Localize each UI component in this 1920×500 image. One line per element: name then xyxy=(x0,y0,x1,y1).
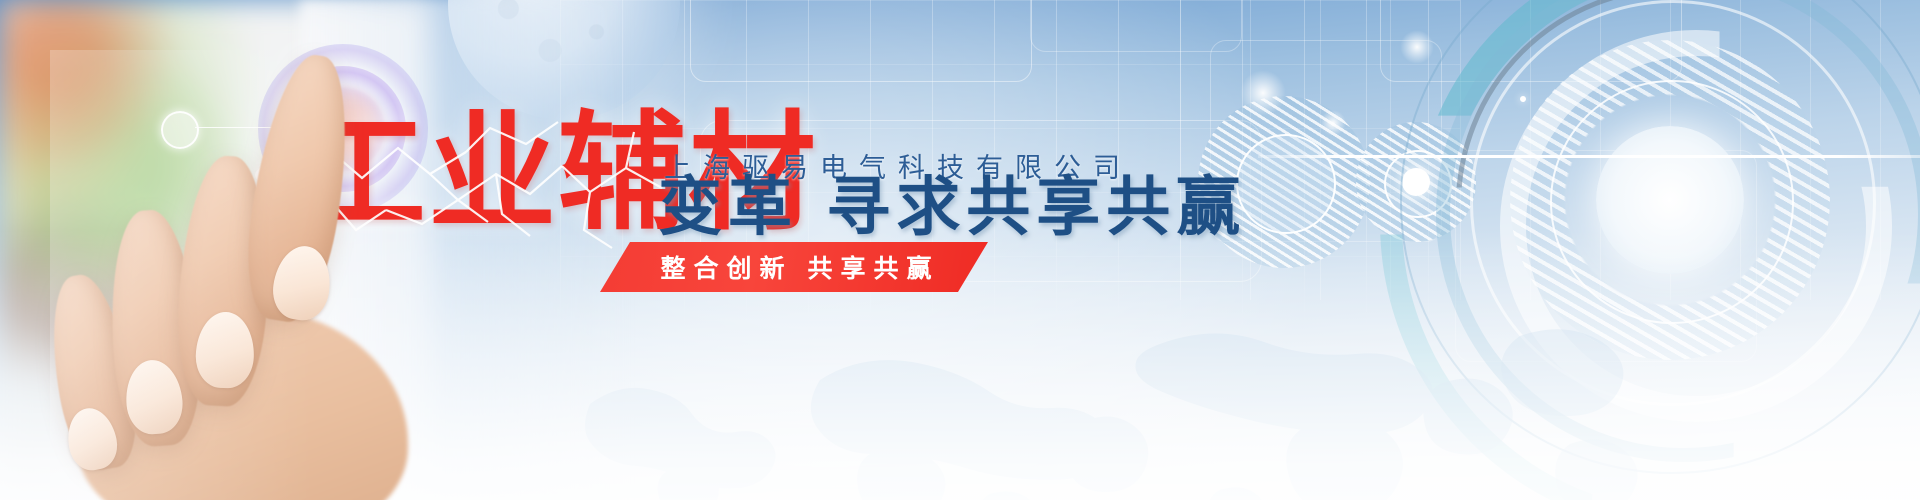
hero-banner: 工业辅材 上海驱易电气科技有限公司 变革 寻求共享共赢 xyxy=(0,0,1920,500)
headline-blue-slogan: 变革 寻求共享共赢 xyxy=(658,176,1246,240)
slogan-ribbon-text: 整合创新 共享共赢 xyxy=(600,242,994,292)
slogan-ribbon: 整合创新 共享共赢 xyxy=(600,242,988,292)
